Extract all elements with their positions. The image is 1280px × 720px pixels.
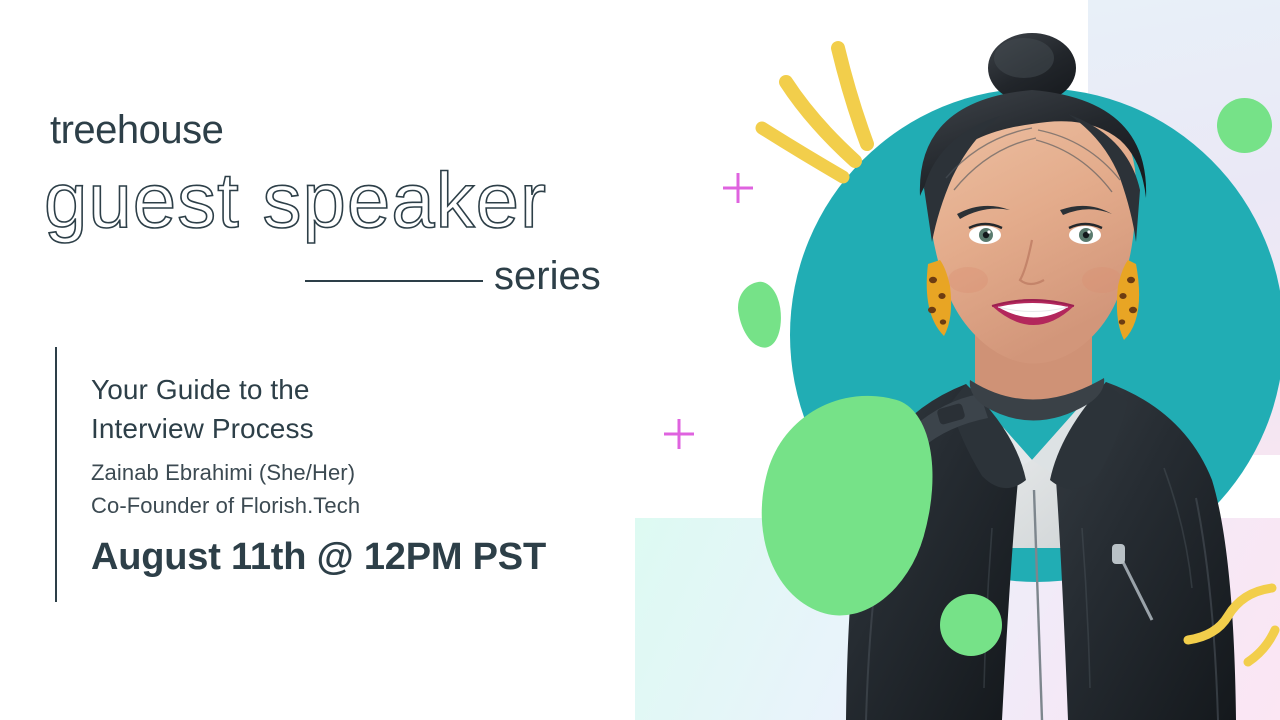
speaker-name: Zainab Ebrahimi (She/Her) xyxy=(91,460,355,486)
headline-outline-text: guest speaker xyxy=(44,160,547,242)
speaker-portrait xyxy=(820,28,1260,720)
speaker-role: Co-Founder of Florish.Tech xyxy=(91,493,360,519)
promo-slide: treehouse guest speaker series Your Guid… xyxy=(0,0,1280,720)
series-label: series xyxy=(494,256,601,296)
green-blob-small-icon xyxy=(735,279,786,350)
brand-logo-text: treehouse xyxy=(50,110,223,150)
session-datetime: August 11th @ 12PM PST xyxy=(91,536,546,579)
session-title: Your Guide to the Interview Process xyxy=(91,370,314,448)
green-circle-bottom-icon xyxy=(940,594,1002,656)
vertical-accent-rule xyxy=(55,347,57,602)
magenta-plus-icon-top xyxy=(723,173,753,203)
series-divider-rule xyxy=(305,280,483,282)
magenta-plus-icon-middle xyxy=(664,419,694,449)
